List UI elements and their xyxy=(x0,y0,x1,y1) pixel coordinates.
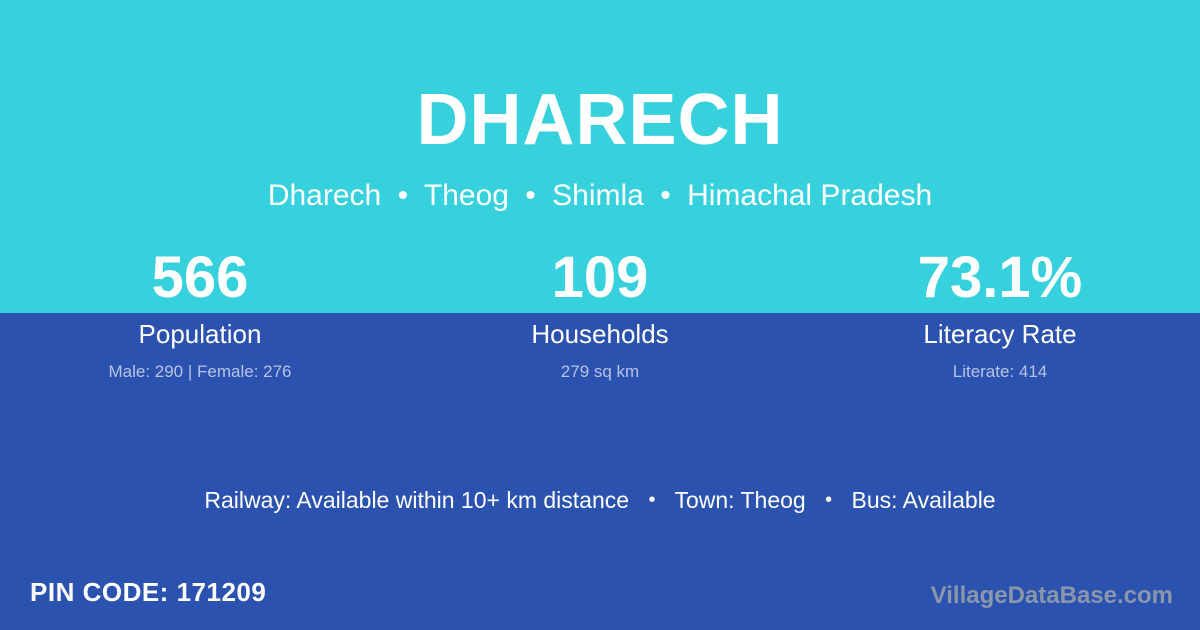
stats-row: 566 Population Male: 290 | Female: 276 1… xyxy=(0,243,1200,384)
breadcrumb-district: Shimla xyxy=(552,179,644,212)
stat-label-literacy-rate: Literacy Rate xyxy=(800,313,1200,351)
stat-population: 566 Population Male: 290 | Female: 276 xyxy=(0,243,400,384)
facility-railway: Railway: Available within 10+ km distanc… xyxy=(204,487,629,513)
breadcrumb-block: Theog xyxy=(424,179,509,212)
facility-town: Town: Theog xyxy=(674,487,805,513)
facility-separator: • xyxy=(812,489,845,511)
pin-code: PIN CODE: 171209 xyxy=(30,575,266,609)
facilities-row: Railway: Available within 10+ km distanc… xyxy=(0,485,1200,517)
village-info-card: DHARECH Dharech • Theog • Shimla • Himac… xyxy=(0,0,1200,630)
stat-label-population: Population xyxy=(0,313,400,351)
breadcrumb-separator: • xyxy=(517,179,544,212)
stat-sub-population: Male: 290 | Female: 276 xyxy=(0,351,400,384)
site-brand-logo: VillageDataBase.com xyxy=(931,580,1173,612)
stat-literacy-rate: 73.1% Literacy Rate Literate: 414 xyxy=(800,243,1200,384)
facility-separator: • xyxy=(635,489,668,511)
stat-value-literacy-rate: 73.1% xyxy=(800,243,1200,313)
breadcrumb-state: Himachal Pradesh xyxy=(687,179,932,212)
stat-sub-households: 279 sq km xyxy=(400,351,800,384)
stat-label-households: Households xyxy=(400,313,800,351)
stat-sub-literacy-rate: Literate: 414 xyxy=(800,351,1200,384)
breadcrumb-separator: • xyxy=(390,179,417,212)
stat-value-population: 566 xyxy=(0,243,400,313)
card-header: DHARECH Dharech • Theog • Shimla • Himac… xyxy=(0,0,1200,212)
breadcrumb: Dharech • Theog • Shimla • Himachal Prad… xyxy=(0,156,1200,212)
facility-bus: Bus: Available xyxy=(852,487,996,513)
stat-households: 109 Households 279 sq km xyxy=(400,243,800,384)
page-title: DHARECH xyxy=(0,0,1200,156)
stat-value-households: 109 xyxy=(400,243,800,313)
breadcrumb-village: Dharech xyxy=(268,179,381,212)
breadcrumb-separator: • xyxy=(652,179,679,212)
